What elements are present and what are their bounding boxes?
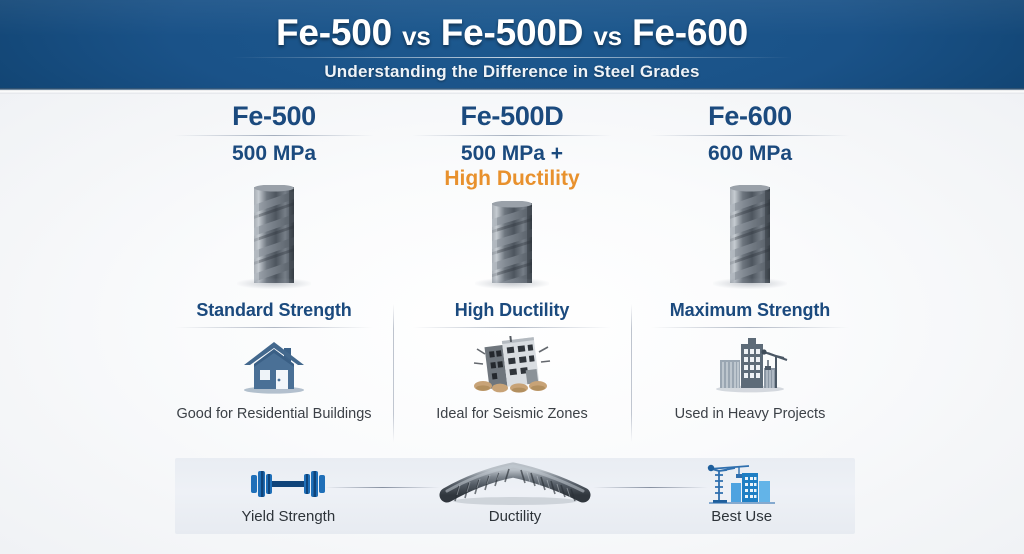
feature-caption: Ideal for Seismic Zones bbox=[436, 405, 588, 424]
title-grade-3: Fe-600 bbox=[632, 12, 748, 53]
summary-label: Ductility bbox=[489, 508, 542, 525]
city-skyline-crane-icon bbox=[708, 336, 792, 394]
title-grade-1: Fe-500 bbox=[276, 12, 392, 53]
title-vs-2: vs bbox=[593, 21, 622, 51]
bent-rebar-icon bbox=[439, 461, 591, 507]
grade-value: 600 MPa bbox=[708, 142, 792, 166]
crane-buildings-icon bbox=[705, 461, 779, 507]
rebar-bar-icon bbox=[246, 185, 302, 289]
summary-item-yield-strength: Yield Strength bbox=[175, 458, 402, 525]
rebar-bar-svg bbox=[722, 185, 778, 289]
house-icon bbox=[238, 336, 310, 394]
page-subtitle: Understanding the Difference in Steel Gr… bbox=[0, 62, 1024, 82]
infographic-root: Fe-500 vs Fe-500D vs Fe-600 Understandin… bbox=[0, 0, 1024, 554]
grade-value-accent: High Ductility bbox=[444, 166, 579, 191]
rebar-bar-icon bbox=[722, 185, 778, 289]
feature-title: Maximum Strength bbox=[670, 300, 830, 321]
dumbbell-svg bbox=[242, 463, 334, 505]
rebar-shadow bbox=[713, 278, 787, 289]
earthquake-building-svg bbox=[469, 336, 555, 394]
feature-column-standard-strength: Standard Strength Good for Residential B… bbox=[155, 300, 393, 448]
feature-title: Standard Strength bbox=[196, 300, 351, 321]
summary-item-best-use: Best Use bbox=[628, 458, 855, 525]
summary-bar: Yield Strength bbox=[175, 458, 855, 534]
header-bottom-edge bbox=[0, 88, 1024, 94]
rebar-bar-icon bbox=[484, 201, 540, 289]
earthquake-damaged-building-icon bbox=[469, 336, 555, 394]
feature-title: High Ductility bbox=[455, 300, 570, 321]
page-title: Fe-500 vs Fe-500D vs Fe-600 bbox=[0, 12, 1024, 54]
summary-item-ductility: Ductility bbox=[402, 458, 629, 525]
title-vs-1: vs bbox=[402, 21, 431, 51]
grade-divider bbox=[174, 135, 374, 136]
house-icon-svg bbox=[238, 338, 310, 394]
bent-rebar-svg bbox=[439, 461, 591, 507]
feature-caption: Good for Residential Buildings bbox=[176, 405, 371, 424]
grade-name: Fe-500 bbox=[232, 102, 316, 130]
grade-columns: Fe-500 500 MPa bbox=[155, 102, 869, 287]
rebar-shadow bbox=[475, 278, 549, 289]
grade-divider bbox=[412, 135, 612, 136]
feature-columns: Standard Strength Good for Residential B… bbox=[155, 300, 869, 448]
grade-value: 500 MPa + bbox=[461, 142, 563, 166]
bent-rebar-wrap bbox=[439, 461, 591, 507]
grade-column-fe500: Fe-500 500 MPa bbox=[155, 102, 393, 287]
feature-divider bbox=[413, 327, 611, 328]
grade-name: Fe-600 bbox=[708, 102, 792, 130]
grade-column-fe600: Fe-600 600 MPa bbox=[631, 102, 869, 287]
grade-divider bbox=[650, 135, 850, 136]
title-divider bbox=[232, 57, 792, 58]
title-grade-2: Fe-500D bbox=[441, 12, 584, 53]
city-crane-svg bbox=[708, 336, 792, 394]
crane-buildings-svg bbox=[705, 461, 779, 507]
summary-label: Yield Strength bbox=[242, 508, 336, 525]
dumbbell-icon bbox=[242, 461, 334, 507]
feature-caption: Used in Heavy Projects bbox=[675, 405, 826, 424]
rebar-bar-svg bbox=[246, 185, 302, 289]
feature-divider bbox=[651, 327, 849, 328]
grade-name: Fe-500D bbox=[461, 102, 564, 130]
summary-label: Best Use bbox=[711, 508, 772, 525]
grade-column-fe500d: Fe-500D 500 MPa + High Ductility bbox=[393, 102, 631, 287]
summary-inner: Yield Strength bbox=[175, 458, 855, 534]
rebar-bar-svg bbox=[484, 201, 540, 289]
rebar-shadow bbox=[237, 278, 311, 289]
grade-value: 500 MPa bbox=[232, 142, 316, 166]
feature-divider bbox=[175, 327, 373, 328]
feature-column-high-ductility: High Ductility bbox=[393, 300, 631, 448]
feature-column-maximum-strength: Maximum Strength bbox=[631, 300, 869, 448]
